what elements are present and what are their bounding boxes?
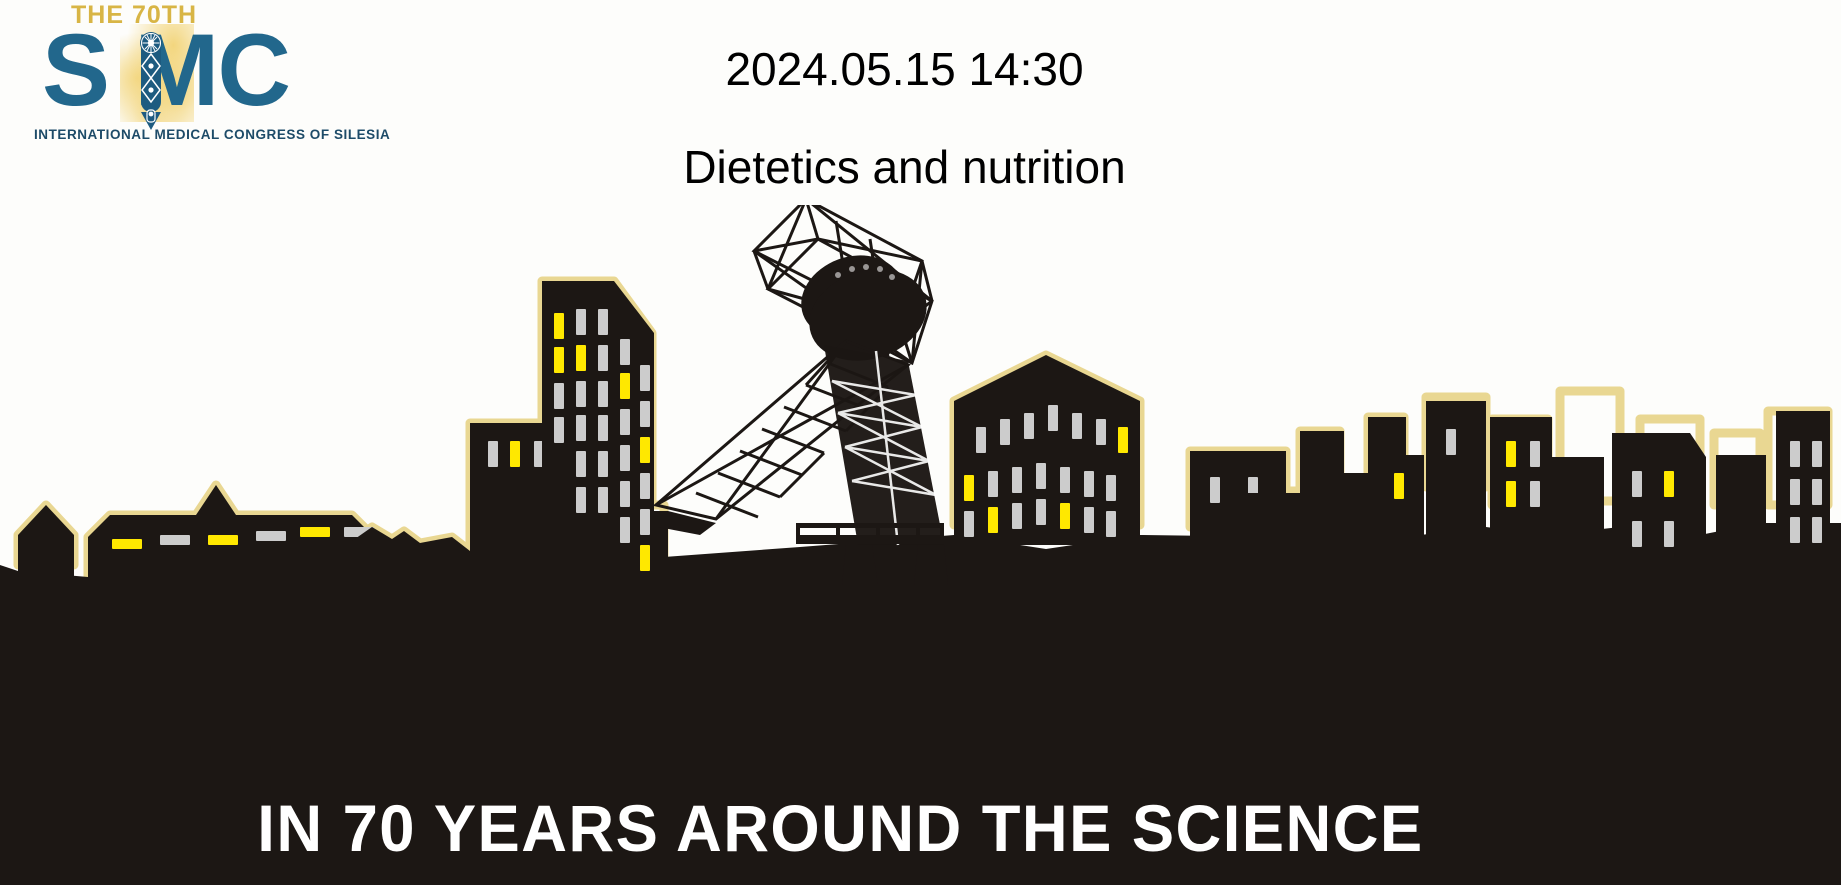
presentation-slide: THE 70TH SIMC INTER (0, 0, 1841, 885)
session-datetime: 2024.05.15 14:30 (0, 42, 1841, 96)
banner-slogan-text: IN 70 YEARS AROUND THE SCIENCE (257, 790, 1423, 866)
session-title: Dietetics and nutrition (0, 140, 1841, 194)
skyline-illustration (0, 205, 1841, 885)
session-title-text: Dietetics and nutrition (683, 140, 1125, 194)
mine-shaft-headframe (656, 205, 948, 585)
session-datetime-text: 2024.05.15 14:30 (725, 42, 1083, 96)
building-tall (542, 281, 668, 601)
banner-slogan: IN 70 YEARS AROUND THE SCIENCE (0, 790, 1841, 866)
building-row-right (1246, 401, 1830, 551)
